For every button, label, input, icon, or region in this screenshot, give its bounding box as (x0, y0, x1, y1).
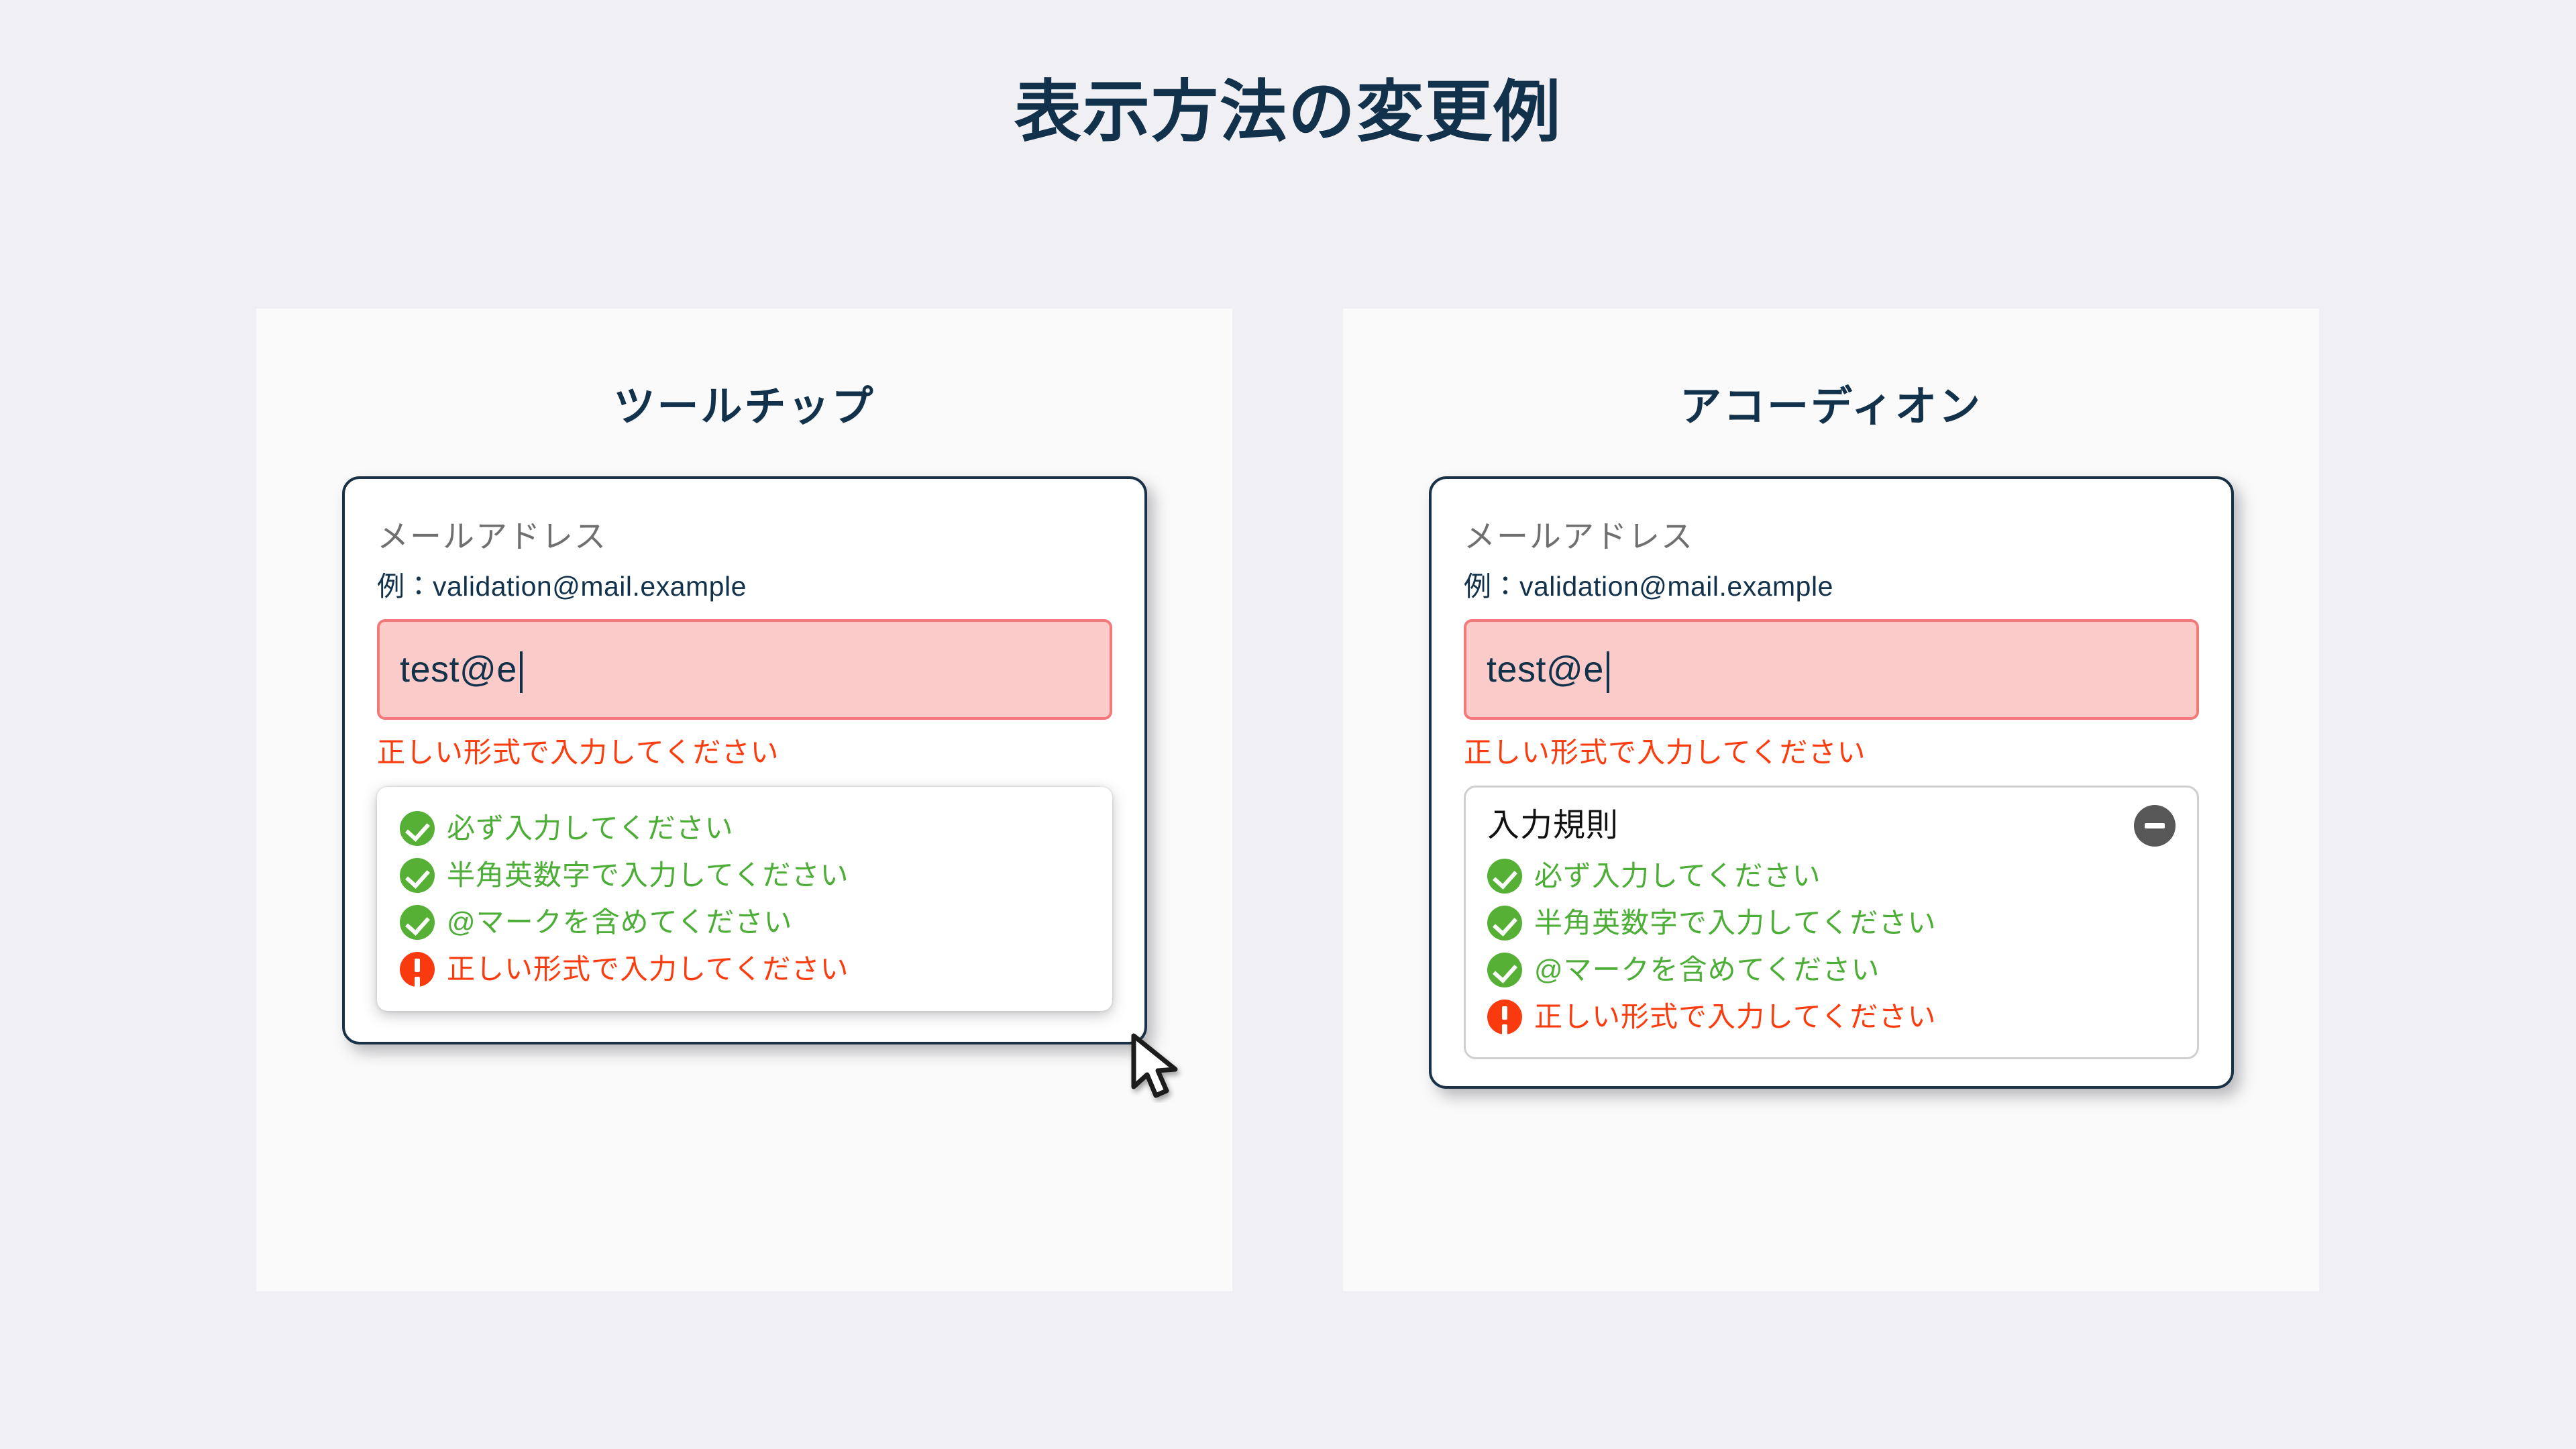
exclamation-circle-icon (400, 952, 435, 987)
check-circle-icon (400, 905, 435, 940)
validation-accordion: 入力規則 必ず入力してください 半角英数字で入力してください @マークを含 (1464, 786, 2199, 1059)
validation-tooltip: 必ず入力してください 半角英数字で入力してください @マークを含めてください 正… (377, 787, 1112, 1011)
rule-label: 半角英数字で入力してください (1534, 908, 1936, 938)
rule-label: 必ず入力してください (1534, 861, 1821, 892)
email-error-message: 正しい形式で入力してください (1464, 737, 2199, 768)
check-circle-icon (400, 858, 435, 893)
email-field-hint: 例：validation@mail.example (1464, 572, 2199, 602)
email-input-value: test@e (1487, 649, 1604, 690)
email-input[interactable]: test@e (377, 619, 1112, 720)
panel-title-accordion: アコーディオン (1343, 372, 2319, 433)
rule-label: 必ず入力してください (447, 813, 733, 844)
accordion-heading: 入力規則 (1487, 808, 1619, 844)
page-title: 表示方法の変更例 (0, 74, 2576, 151)
check-circle-icon (400, 811, 435, 846)
form-card-accordion: メールアドレス 例：validation@mail.example test@e… (1429, 476, 2234, 1089)
text-caret (1607, 651, 1609, 693)
check-circle-icon (1487, 859, 1522, 894)
form-card-tooltip: メールアドレス 例：validation@mail.example test@e… (342, 476, 1147, 1044)
validation-rule-list-tooltip: 必ず入力してください 半角英数字で入力してください @マークを含めてください 正… (400, 811, 1085, 987)
mouse-cursor-left (1128, 1033, 1190, 1103)
list-item: 必ず入力してください (400, 811, 1085, 846)
list-item: @マークを含めてください (1487, 953, 2176, 987)
email-field-hint: 例：validation@mail.example (377, 572, 1112, 602)
minus-circle-icon[interactable] (2134, 805, 2176, 847)
demo-panel-accordion: アコーディオン メールアドレス 例：validation@mail.exampl… (1343, 309, 2319, 1291)
exclamation-circle-icon (1487, 1000, 1522, 1034)
email-error-message: 正しい形式で入力してください (377, 737, 1112, 768)
email-input-value: test@e (400, 649, 517, 690)
list-item: 半角英数字で入力してください (1487, 906, 2176, 941)
rule-label: @マークを含めてください (447, 907, 792, 938)
panel-title-tooltip: ツールチップ (256, 372, 1232, 433)
email-field-label: メールアドレス (377, 519, 1112, 554)
validation-rule-list-accordion: 必ず入力してください 半角英数字で入力してください @マークを含めてください 正… (1487, 859, 2176, 1034)
check-circle-icon (1487, 906, 1522, 941)
list-item: @マークを含めてください (400, 905, 1085, 940)
email-input[interactable]: test@e (1464, 619, 2199, 720)
list-item: 半角英数字で入力してください (400, 858, 1085, 893)
demo-panel-tooltip: ツールチップ メールアドレス 例：validation@mail.example… (256, 309, 1232, 1291)
text-caret (520, 651, 523, 693)
page-root: 表示方法の変更例 ツールチップ メールアドレス 例：validation@mai… (0, 0, 2576, 1449)
accordion-header[interactable]: 入力規則 (1487, 805, 2176, 847)
list-item: 必ず入力してください (1487, 859, 2176, 894)
arrow-pointer-icon (1134, 1036, 1175, 1095)
check-circle-icon (1487, 953, 1522, 987)
rule-label: 正しい形式で入力してください (1534, 1002, 1936, 1032)
email-field-label: メールアドレス (1464, 519, 2199, 554)
list-item: 正しい形式で入力してください (400, 952, 1085, 987)
list-item: 正しい形式で入力してください (1487, 1000, 2176, 1034)
rule-label: 正しい形式で入力してください (447, 954, 849, 985)
rule-label: 半角英数字で入力してください (447, 860, 849, 891)
rule-label: @マークを含めてください (1534, 955, 1880, 985)
